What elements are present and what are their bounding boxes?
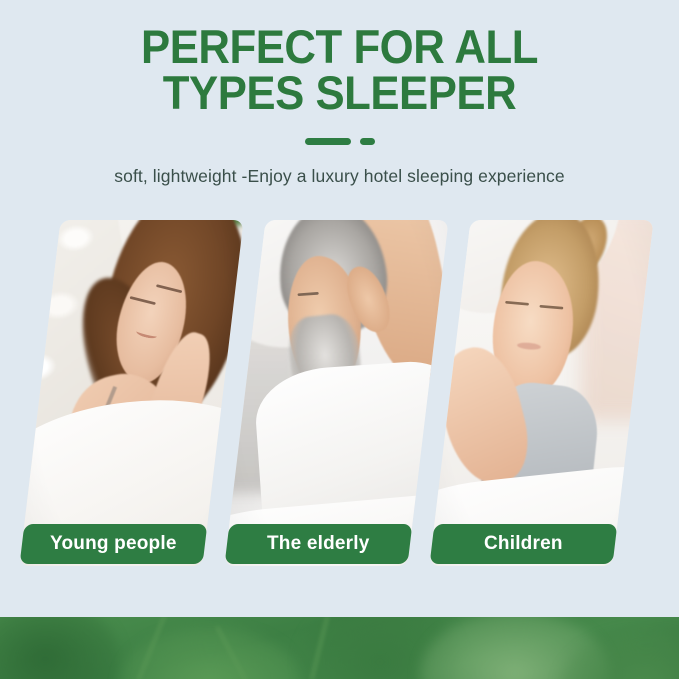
headline-line-1: PERFECT FOR ALL [24,24,655,70]
photo-clip [429,220,653,566]
photo-the-elderly [224,220,448,566]
page-title: PERFECT FOR ALL TYPES SLEEPER [24,24,655,116]
label-text: Young people [50,533,177,555]
label-group: Young people The elderly Children [0,524,679,570]
panel-group [0,220,679,566]
divider-long-bar [305,138,351,145]
divider-short-bar [360,138,375,145]
headline-line-2: TYPES SLEEPER [24,70,655,116]
photo-clip [19,220,243,566]
leaf-shape [0,617,120,679]
label-children: Children [430,524,618,564]
vignette [224,220,448,566]
label-young-people: Young people [20,524,208,564]
photo-clip [224,220,448,566]
footer-botanical-band [0,617,679,679]
marketing-banner: PERFECT FOR ALL TYPES SLEEPER soft, ligh… [0,0,679,679]
photo-panel-children [429,220,653,566]
vignette [19,220,243,566]
photo-panel-the-elderly [224,220,448,566]
photo-children [429,220,653,566]
label-text: Children [484,533,563,555]
subtitle: soft, lightweight -Enjoy a luxury hotel … [0,166,679,187]
label-the-elderly: The elderly [225,524,413,564]
label-text: The elderly [267,533,370,555]
divider [0,138,679,145]
photo-young-people [19,220,243,566]
vignette [429,220,653,566]
photo-panel-young-people [19,220,243,566]
